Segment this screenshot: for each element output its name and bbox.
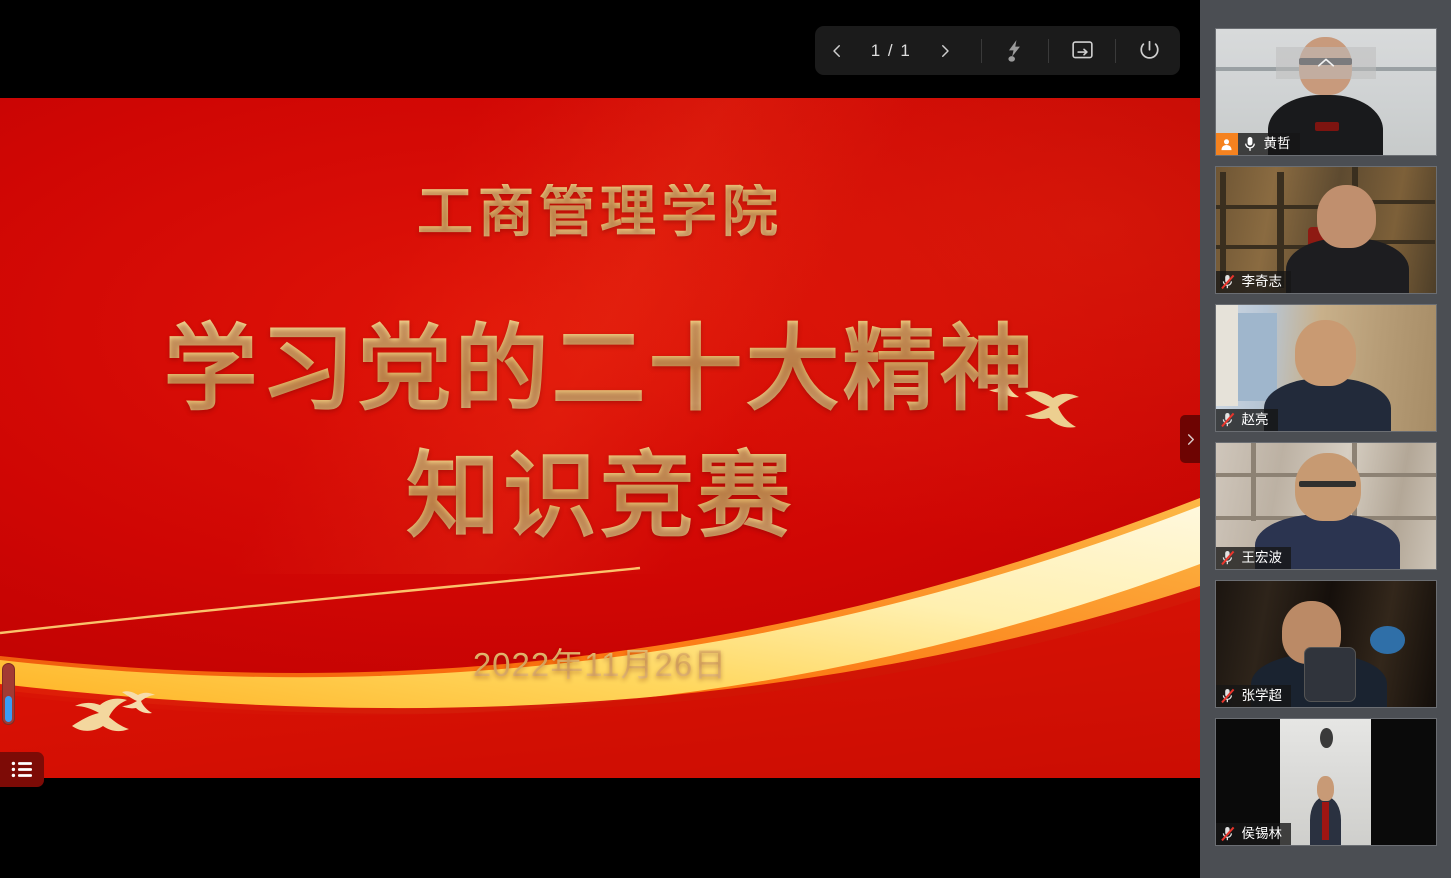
microphone-muted-icon: [1220, 826, 1236, 842]
dove-bottom-large-icon: [66, 696, 130, 746]
chevron-right-icon: [936, 42, 954, 60]
power-stop-icon: [1138, 39, 1161, 62]
host-badge-icon: [1216, 133, 1238, 155]
popout-window-icon: [1071, 40, 1094, 61]
mic-off-icon: [1216, 274, 1240, 290]
microphone-icon: [1244, 136, 1256, 152]
slide-subject-text: 工商管理学院: [0, 184, 1200, 240]
slide-title-line2: 知识竞赛: [0, 443, 1200, 548]
participant-name: 侯锡林: [1240, 827, 1283, 841]
participant-name: 张学超: [1240, 689, 1283, 703]
participant-name: 李奇志: [1240, 275, 1283, 289]
participant-namebar: 赵亮: [1216, 409, 1278, 431]
presentation-slide: 工商管理学院 学习党的二十大精神 知识竞赛 2022年11月26日: [0, 98, 1200, 778]
expand-panel-button[interactable]: [1180, 415, 1200, 463]
vertical-slider[interactable]: [2, 663, 15, 725]
participant-video-sidebar: 黄哲: [1200, 0, 1451, 878]
laser-pointer-button[interactable]: [984, 26, 1046, 75]
participant-namebar: 侯锡林: [1216, 823, 1292, 845]
slide-thin-gold-line: [0, 98, 1200, 778]
participant-tile[interactable]: 王宏波: [1215, 442, 1437, 570]
video-conference-window: 工商管理学院 学习党的二十大精神 知识竞赛 2022年11月26日 1 / 1: [0, 0, 1451, 878]
next-slide-button[interactable]: [923, 26, 967, 75]
participant-namebar: 黄哲: [1216, 133, 1300, 155]
mic-off-icon: [1216, 412, 1240, 428]
toolbar-divider-2: [1048, 39, 1049, 63]
microphone-muted-icon: [1220, 412, 1236, 428]
slide-sheen-right: [420, 98, 1200, 608]
toolbar-divider-1: [981, 39, 982, 63]
popout-window-button[interactable]: [1051, 26, 1113, 75]
participant-tile[interactable]: 侯锡林: [1215, 718, 1437, 846]
mic-off-icon: [1216, 688, 1240, 704]
participant-namebar: 王宏波: [1216, 547, 1292, 569]
participant-tile[interactable]: 张学超: [1215, 580, 1437, 708]
microphone-muted-icon: [1220, 550, 1236, 566]
stop-share-button[interactable]: [1118, 26, 1180, 75]
gold-ribbon-wave: [0, 478, 1200, 778]
share-toolbar: 1 / 1: [815, 26, 1180, 75]
slide-list-button[interactable]: [0, 752, 44, 787]
dove-top-large-icon: [1020, 383, 1082, 435]
dove-bottom-small-icon: [118, 686, 158, 720]
participant-name: 黄哲: [1262, 137, 1291, 151]
page-indicator: 1 / 1: [859, 41, 923, 61]
self-view-collapse-button[interactable]: [1276, 47, 1376, 79]
chevron-left-icon: [828, 42, 846, 60]
microphone-muted-icon: [1220, 274, 1236, 290]
laser-pointer-icon: [1004, 39, 1026, 63]
shared-screen-stage: 工商管理学院 学习党的二十大精神 知识竞赛 2022年11月26日 1 / 1: [0, 0, 1200, 878]
slide-sheen-left: [0, 98, 1200, 574]
participant-tile[interactable]: 李奇志: [1215, 166, 1437, 294]
person-icon: [1220, 138, 1233, 151]
slide-date-text: 2022年11月26日: [0, 638, 1200, 686]
participant-namebar: 李奇志: [1216, 271, 1292, 293]
chevron-right-icon: [1185, 432, 1196, 447]
dove-top-small-icon: [985, 370, 1025, 404]
participant-name: 赵亮: [1240, 413, 1269, 427]
previous-slide-button[interactable]: [815, 26, 859, 75]
slide-title-line1: 学习党的二十大精神: [0, 316, 1200, 421]
list-icon: [11, 761, 33, 778]
toolbar-divider-3: [1115, 39, 1116, 63]
participant-namebar: 张学超: [1216, 685, 1292, 707]
mic-on-icon: [1238, 136, 1262, 152]
microphone-muted-icon: [1220, 688, 1236, 704]
participant-name: 王宏波: [1240, 551, 1283, 565]
participant-tile[interactable]: 赵亮: [1215, 304, 1437, 432]
participant-tile[interactable]: 黄哲: [1215, 28, 1437, 156]
mic-off-icon: [1216, 826, 1240, 842]
mic-off-icon: [1216, 550, 1240, 566]
chevron-up-icon: [1316, 57, 1336, 69]
vertical-slider-fill: [5, 696, 12, 722]
